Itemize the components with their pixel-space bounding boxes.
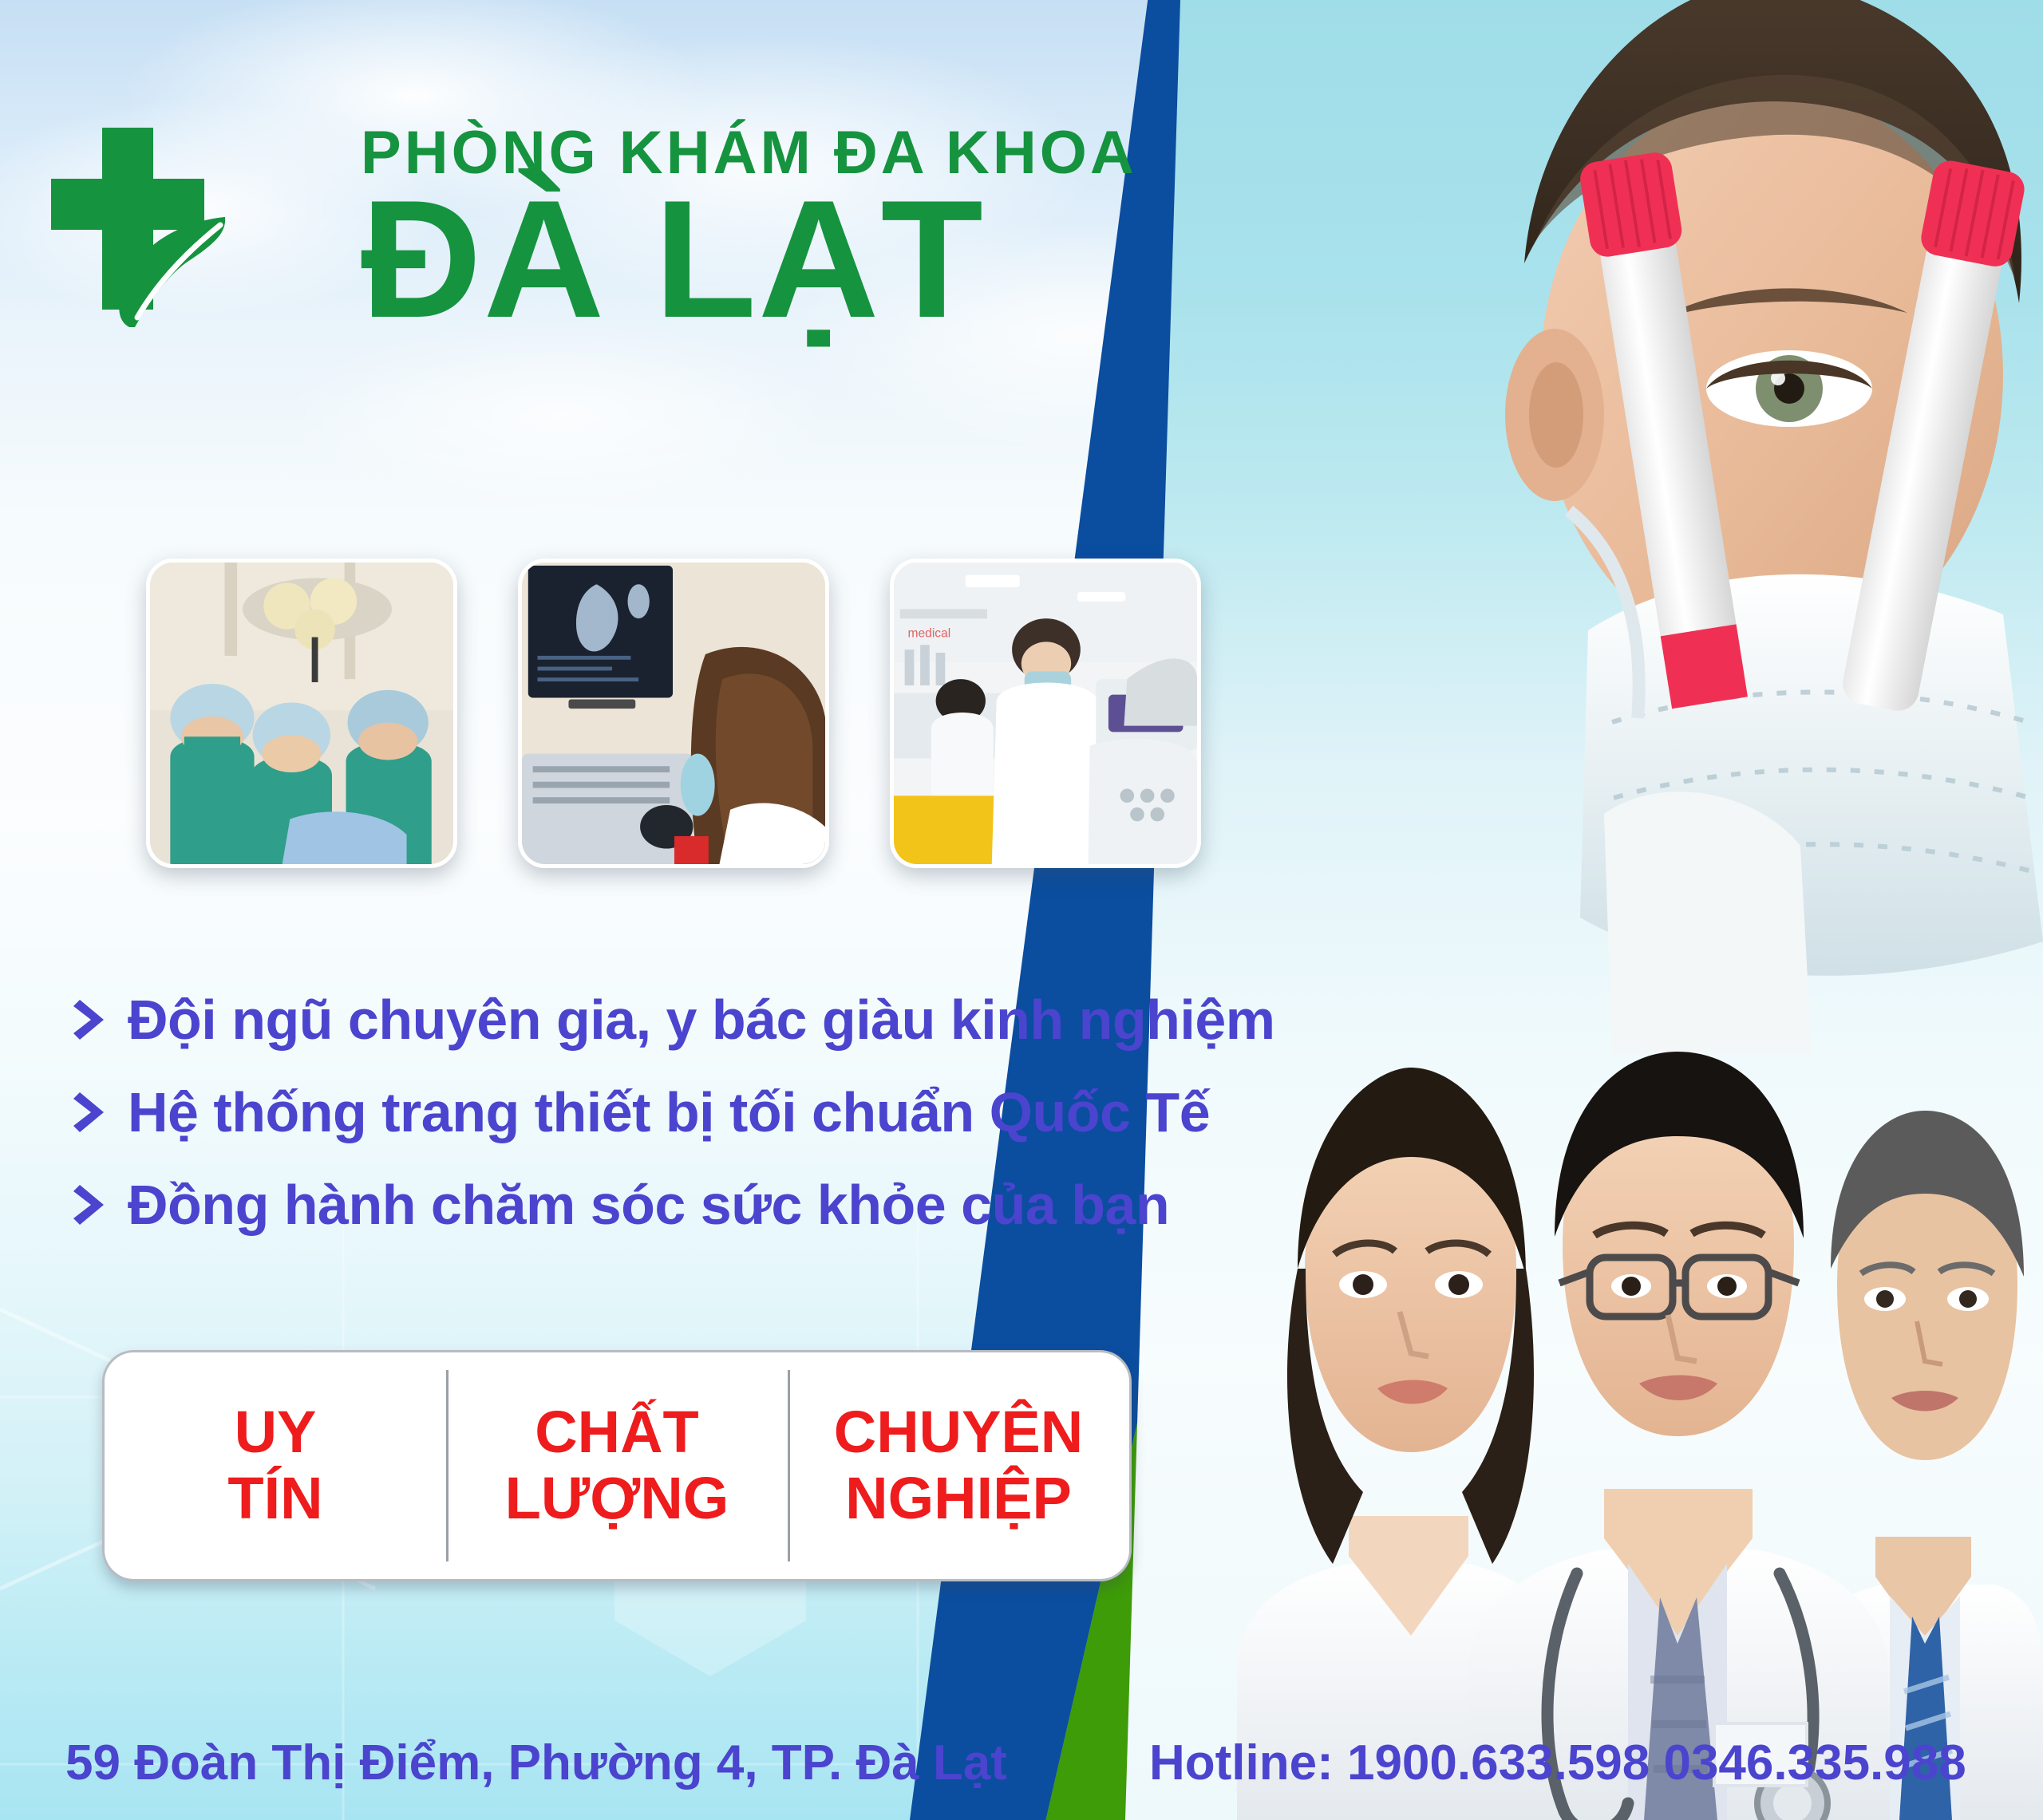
clinic-address: 59 Đoàn Thị Điểm, Phường 4, TP. Đà Lạt [65,1735,1007,1791]
hero-photo-backdrop [1125,0,2043,1820]
chevron-right-icon [73,1089,110,1135]
laboratory-photo[interactable]: medical [890,559,1201,868]
feature-bullet-list: Đội ngũ chuyên gia, y bác giàu kinh nghi… [73,988,1275,1265]
slogan-line-2: LƯỢNG [505,1466,729,1532]
chevron-right-icon [73,997,110,1043]
bullet-text: Đội ngũ chuyên gia, y bác giàu kinh nghi… [128,988,1275,1052]
bullet-item: Đồng hành chăm sóc sức khỏe của bạn [73,1173,1275,1237]
slogan-line-1: CHẤT [535,1400,699,1466]
slogan-line-2: TÍN [227,1466,322,1532]
bullet-item: Hệ thống trang thiết bị tối chuẩn Quốc T… [73,1080,1275,1144]
slogan-cell-chat-luong: CHẤT LƯỢNG [446,1352,788,1579]
bullet-text: Đồng hành chăm sóc sức khỏe của bạn [128,1173,1169,1237]
ultrasound-photo[interactable] [518,559,829,868]
svg-text:medical: medical [908,627,951,641]
clinic-photo-strip: medical [146,559,1201,868]
slogan-line-1: UY [235,1400,317,1466]
brand-name: ĐÀ LẠT [361,172,985,348]
bullet-item: Đội ngũ chuyên gia, y bác giàu kinh nghi… [73,988,1275,1052]
operating-room-photo[interactable] [146,559,457,868]
slogan-cell-uy-tin: UY TÍN [105,1352,446,1579]
bullet-text: Hệ thống trang thiết bị tối chuẩn Quốc T… [128,1080,1210,1144]
slogan-line-1: CHUYÊN [834,1400,1083,1466]
slogan-line-2: NGHIỆP [845,1466,1072,1532]
clinic-advertisement-banner: PHÒNG KHÁM ĐA KHOA ĐÀ LẠT [0,0,2043,1820]
medical-cross-leaf-logo [40,120,279,327]
slogan-cell-chuyen-nghiep: CHUYÊN NGHIỆP [788,1352,1129,1579]
chevron-right-icon [73,1182,110,1228]
clinic-hotline[interactable]: Hotline: 1900.633.598 0346.335.988 [1149,1735,1966,1791]
slogan-box: UY TÍN CHẤT LƯỢNG CHUYÊN NGHIỆP [102,1350,1132,1581]
